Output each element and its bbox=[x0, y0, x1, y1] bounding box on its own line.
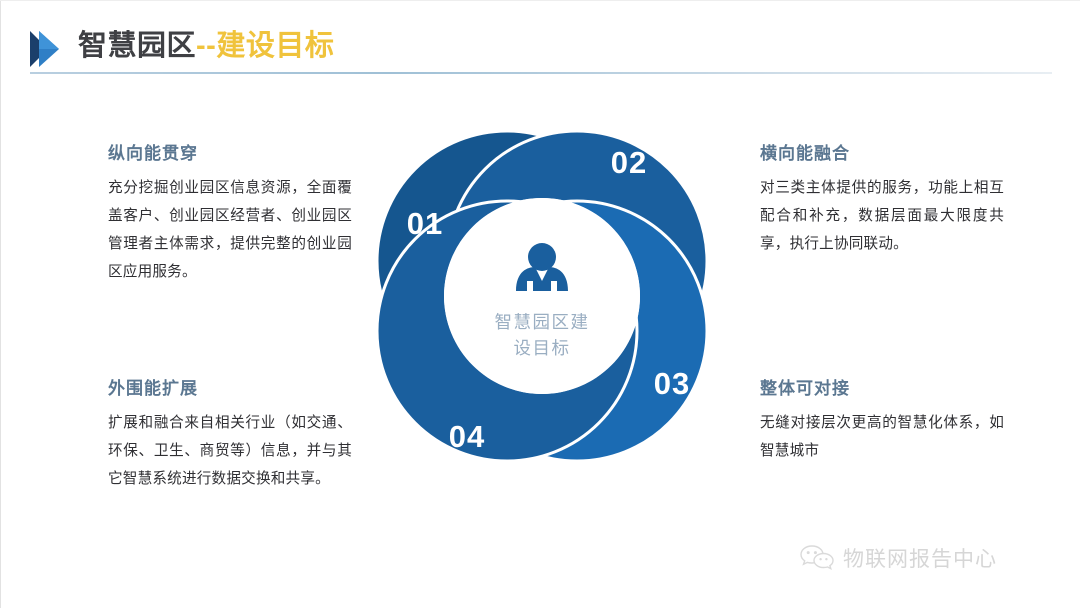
info-block-title: 横向能融合 bbox=[760, 143, 1004, 165]
info-block-body: 无缝对接层次更高的智慧化体系，如智慧城市 bbox=[760, 409, 1004, 465]
page-title: 智慧园区--建设目标 bbox=[78, 24, 334, 68]
pinwheel-diagram: 智慧园区建 设目标 01 02 03 04 bbox=[352, 106, 732, 486]
center-label-line2: 设目标 bbox=[514, 338, 571, 358]
center-disc bbox=[444, 198, 640, 394]
info-block-title: 整体可对接 bbox=[760, 378, 1004, 400]
info-block-integration: 整体可对接 无缝对接层次更高的智慧化体系，如智慧城市 bbox=[760, 378, 1004, 465]
header-divider bbox=[30, 72, 1052, 74]
info-block-body: 充分挖掘创业园区信息资源，全面覆盖客户、创业园区经营者、创业园区管理者主体需求，… bbox=[108, 174, 352, 286]
petal-number-01: 01 bbox=[407, 206, 443, 241]
slide-canvas: 智慧园区--建设目标 纵向能贯穿 充分挖掘创业园区信息资源，全面覆盖客户、创业园… bbox=[0, 0, 1080, 608]
petal-number-02: 02 bbox=[611, 145, 647, 180]
info-block-vertical: 纵向能贯穿 充分挖掘创业园区信息资源，全面覆盖客户、创业园区经营者、创业园区管理… bbox=[108, 143, 352, 286]
petal-number-03: 03 bbox=[654, 366, 690, 401]
watermark: 物联网报告中心 bbox=[800, 540, 1050, 580]
wechat-icon bbox=[800, 544, 834, 577]
page-title-main: 智慧园区 bbox=[78, 30, 196, 62]
info-block-title: 外围能扩展 bbox=[108, 378, 352, 400]
slide-header: 智慧园区--建设目标 bbox=[28, 24, 1052, 76]
center-label-line1: 智慧园区建 bbox=[495, 312, 590, 332]
double-triangle-icon bbox=[28, 29, 72, 69]
info-block-body: 对三类主体提供的服务，功能上相互配合和补充，数据层面最大限度共享，执行上协同联动… bbox=[760, 174, 1004, 258]
watermark-text: 物联网报告中心 bbox=[843, 546, 997, 574]
info-block-body: 扩展和融合来自相关行业（如交通、环保、卫生、商贸等）信息，并与其它智慧系统进行数… bbox=[108, 409, 352, 493]
info-block-title: 纵向能贯穿 bbox=[108, 143, 352, 165]
petal-number-04: 04 bbox=[449, 419, 485, 454]
info-block-peripheral: 外围能扩展 扩展和融合来自相关行业（如交通、环保、卫生、商贸等）信息，并与其它智… bbox=[108, 378, 352, 493]
page-title-accent: --建设目标 bbox=[196, 30, 334, 62]
info-block-horizontal: 横向能融合 对三类主体提供的服务，功能上相互配合和补充，数据层面最大限度共享，执… bbox=[760, 143, 1004, 258]
